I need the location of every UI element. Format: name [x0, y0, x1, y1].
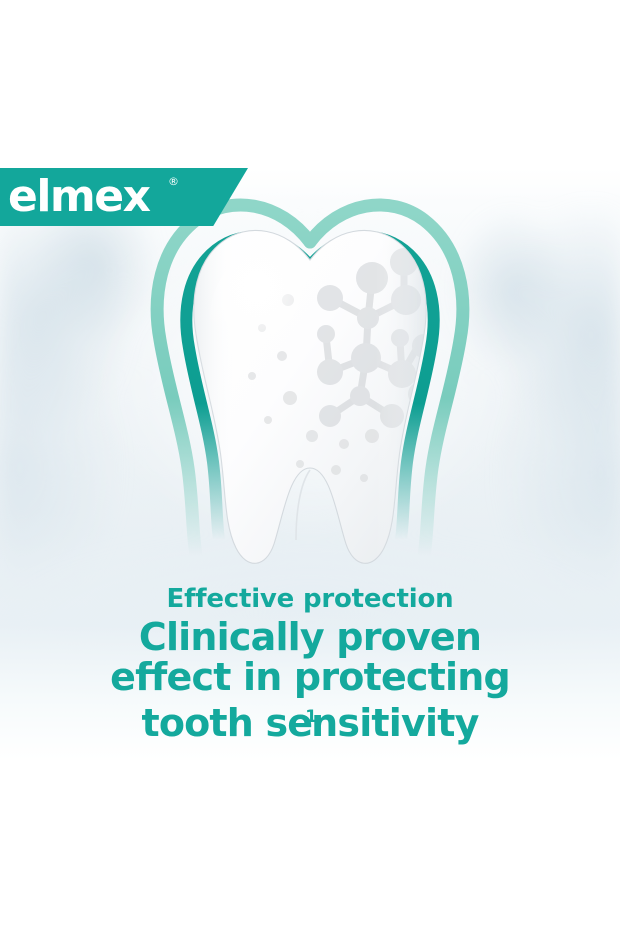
eyebrow-text: Effective protection [0, 583, 620, 615]
headline-line-1: Clinically proven [0, 617, 620, 657]
banner-page: elmex ® Effective protection Clinically … [0, 0, 620, 930]
headline-line-3: tooth se1nsitivity [0, 697, 620, 743]
elmex-logo-banner[interactable]: elmex ® [0, 168, 248, 226]
headline-line-2: effect in protecting [0, 657, 620, 697]
registered-trademark-icon: ® [168, 176, 179, 187]
artwork-panel: elmex ® Effective protection Clinically … [0, 168, 620, 760]
headline-line-3-part-b: nsitivity [311, 701, 478, 745]
headline-line-3-part-a: tooth se [141, 701, 312, 745]
copy-block: Effective protection Clinically proven e… [0, 583, 620, 743]
elmex-wordmark: elmex [8, 170, 150, 224]
headline: Clinically proven effect in protecting t… [0, 617, 620, 743]
